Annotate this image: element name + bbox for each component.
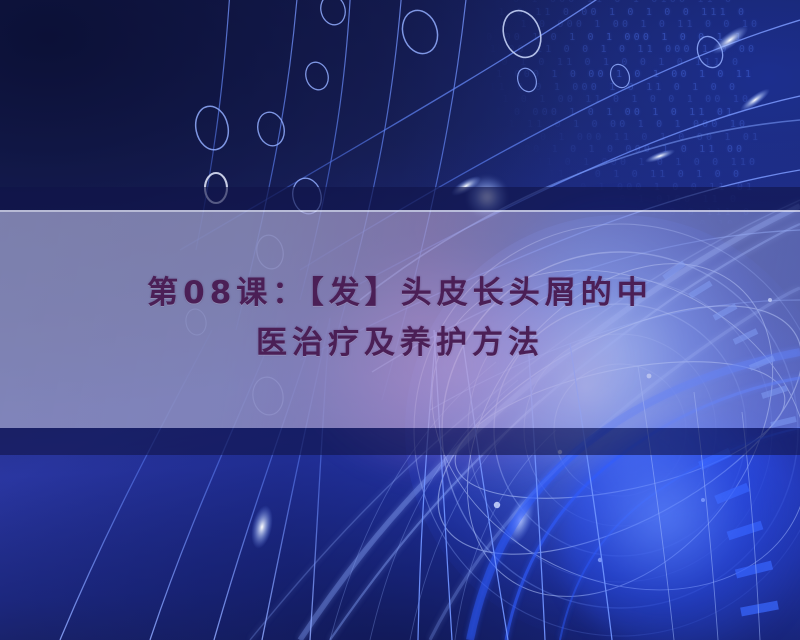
bottom-dark-band (0, 428, 800, 455)
title-panel (0, 212, 800, 428)
course-cover: 0 1 00 1 0 1 000 11 0 1 0100 11 01 000 1… (0, 0, 800, 640)
top-dark-band (0, 187, 800, 211)
